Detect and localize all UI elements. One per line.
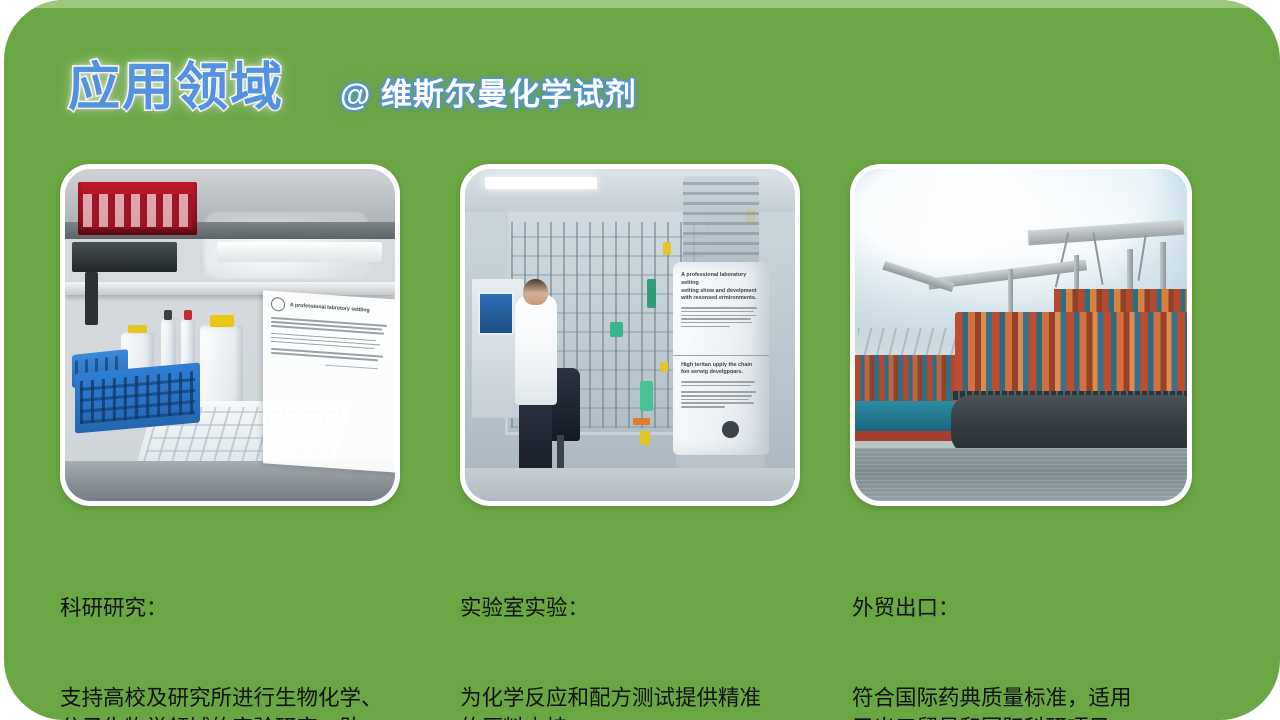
reactor-headplate-shape [683, 176, 759, 266]
blue-tube-rack-shape [75, 363, 200, 434]
photo-overlay-block-top: A professional laboratory setting settin… [681, 272, 760, 329]
overlay-title: A professional labrotory settling [290, 302, 370, 314]
green-valve-shape [640, 381, 653, 411]
green-valve-shape [647, 279, 657, 309]
caption-row: 科研研究： 支持高校及研究所进行生物化学、 分子生物学领域的实验研究，助 力尖端… [0, 534, 1280, 714]
orange-hose-shape [633, 418, 650, 425]
pilot-plant-photo: A professional laboratory setting settin… [465, 169, 795, 501]
caption-export: 外贸出口： 符合国际药典质量标准，适用 于出口贸易和国际科研项目。 [852, 534, 1202, 720]
red-tube-rack-shape [78, 182, 197, 235]
scientist-legs-shape [519, 401, 552, 477]
ceiling-light-shape [485, 177, 597, 188]
photo-card-row: A professional labrotory settling [0, 164, 1280, 509]
overlay-title-secondary: High teritan upply the chain fon serwig … [681, 362, 760, 378]
pressure-gauge-shape [722, 421, 739, 438]
caption-body: 支持高校及研究所进行生物化学、 分子生物学领域的实验研究，助 力尖端科技发展。 [60, 684, 420, 720]
overlay-subtitle: setting show and develpment with resonse… [681, 288, 760, 304]
floor-shape [465, 468, 795, 501]
photo-card-laboratory[interactable]: A professional laboratory setting settin… [460, 164, 800, 506]
scientist-labcoat-shape [515, 295, 558, 405]
water-shape [855, 448, 1187, 501]
yellow-tag-shape [663, 242, 671, 255]
page-title: 应用领域 [68, 62, 284, 114]
shelf-shape [65, 282, 395, 295]
dark-instrument-shape [72, 242, 178, 272]
scientist-head-shape [523, 279, 548, 306]
container-stack-shape [955, 312, 1187, 402]
caption-body: 为化学反应和配方测试提供精准 的原料支持。 [460, 684, 820, 720]
caption-body: 符合国际药典质量标准，适用 于出口贸易和国际科研项目。 [852, 684, 1202, 720]
ship-hull-shape [951, 395, 1187, 455]
container-port-photo [855, 169, 1187, 501]
reagent-bottle-shape [200, 325, 243, 405]
reactor-base-shape [676, 455, 765, 468]
hood-lamp-shape [217, 242, 382, 262]
overlay-title: A professional laboratory setting [681, 272, 760, 288]
caption-title: 科研研究： [60, 594, 420, 624]
caption-title: 实验室实验： [460, 594, 820, 624]
computer-monitor-shape [478, 292, 514, 335]
distant-ship-waterline-shape [855, 431, 965, 441]
lab-stand-shape [85, 272, 98, 325]
yellow-tag-shape [660, 362, 668, 372]
brand-handle: @ 维斯尔曼化学试剂 [340, 79, 637, 110]
slide-root: 应用领域 @ 维斯尔曼化学试剂 [0, 0, 1280, 720]
caption-laboratory: 实验室实验： 为化学反应和配方测试提供精准 的原料支持。 [460, 534, 820, 720]
photo-card-export[interactable] [850, 164, 1192, 506]
chair-post-shape [557, 435, 564, 468]
header: 应用领域 @ 维斯尔曼化学试剂 [0, 0, 1280, 160]
caption-title: 外贸出口： [852, 594, 1202, 624]
reactor-seam-shape [673, 355, 769, 356]
yellow-tag-shape [640, 431, 650, 444]
green-valve-shape [610, 322, 623, 337]
overlay-badge-icon [271, 297, 285, 312]
photo-overlay-block-bottom: High teritan upply the chain fon serwig … [681, 362, 760, 410]
photo-card-research[interactable]: A professional labrotory settling [60, 164, 400, 506]
caption-research: 科研研究： 支持高校及研究所进行生物化学、 分子生物学领域的实验研究，助 力尖端… [60, 534, 420, 720]
photo-overlay-card: A professional labrotory settling [263, 290, 395, 472]
laboratory-bench-photo: A professional labrotory settling [65, 169, 395, 501]
